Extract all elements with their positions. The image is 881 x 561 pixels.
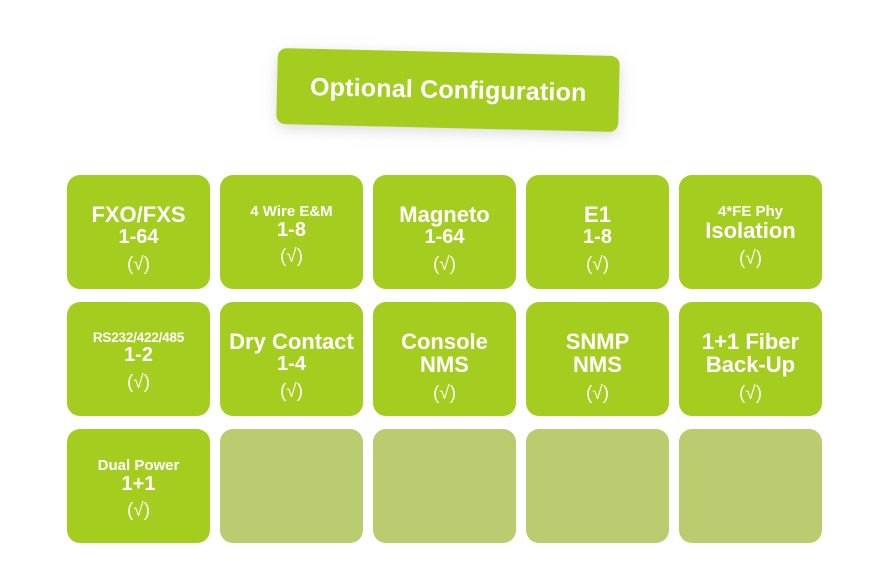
tile-check-mark: (√) — [433, 384, 456, 403]
tile-line-secondary: 1-64 — [118, 227, 158, 248]
config-tile-console-nms: ConsoleNMS(√) — [373, 302, 516, 416]
tile-line-primary: Dry Contact — [229, 331, 354, 354]
config-tile-4fe-phy-isolation: 4*FE PhyIsolation(√) — [679, 175, 822, 289]
tile-check-mark: (√) — [433, 255, 456, 274]
config-tile-empty-slot-2 — [373, 429, 516, 543]
tile-check-mark: (√) — [280, 382, 303, 401]
tile-check-mark: (√) — [127, 373, 150, 392]
tile-line-secondary: Back-Up — [706, 354, 795, 377]
configuration-tile-grid: FXO/FXS1-64(√)4 Wire E&M1-8(√)Magneto1-6… — [67, 175, 821, 543]
tile-check-mark: (√) — [127, 255, 150, 274]
config-tile-rs232-422-485: RS232/422/4851-2(√) — [67, 302, 210, 416]
config-tile-empty-slot-4 — [679, 429, 822, 543]
config-tile-empty-slot-1 — [220, 429, 363, 543]
tile-line-secondary: 1-64 — [424, 227, 464, 248]
tile-check-mark: (√) — [586, 384, 609, 403]
tile-line-secondary: 1-8 — [583, 227, 612, 248]
tile-line-primary: Dual Power — [98, 458, 180, 474]
tile-check-mark: (√) — [280, 247, 303, 266]
tile-line-primary: 4 Wire E&M — [250, 204, 332, 220]
tile-line-secondary: 1+1 — [122, 474, 156, 495]
config-tile-dual-power: Dual Power1+1(√) — [67, 429, 210, 543]
tile-check-mark: (√) — [739, 249, 762, 268]
optional-configuration-banner: Optional Configuration — [271, 46, 623, 136]
config-tile-fxo-fxs: FXO/FXS1-64(√) — [67, 175, 210, 289]
config-tile-dry-contact: Dry Contact1-4(√) — [220, 302, 363, 416]
tile-line-primary: Magneto — [399, 204, 489, 227]
tile-line-primary: SNMP — [566, 331, 630, 354]
tile-line-primary: Console — [401, 331, 488, 354]
tile-line-primary: FXO/FXS — [91, 204, 185, 227]
page-title: Optional Configuration — [309, 73, 586, 108]
config-tile-snmp-nms: SNMPNMS(√) — [526, 302, 669, 416]
tile-check-mark: (√) — [127, 501, 150, 520]
tile-line-primary: E1 — [584, 204, 611, 227]
tile-line-secondary: Isolation — [705, 220, 795, 243]
tile-line-primary: RS232/422/485 — [93, 331, 184, 345]
tile-line-primary: 1+1 Fiber — [702, 331, 799, 354]
tile-check-mark: (√) — [739, 384, 762, 403]
config-tile-e1: E11-8(√) — [526, 175, 669, 289]
config-tile-1plus1-fiber-backup: 1+1 FiberBack-Up(√) — [679, 302, 822, 416]
config-tile-4-wire-em: 4 Wire E&M1-8(√) — [220, 175, 363, 289]
tile-line-secondary: 1-4 — [277, 354, 306, 375]
tile-line-secondary: 1-8 — [277, 220, 306, 241]
tile-line-secondary: NMS — [420, 354, 469, 377]
tile-check-mark: (√) — [586, 255, 609, 274]
tile-line-secondary: 1-2 — [124, 345, 153, 366]
banner-plate: Optional Configuration — [276, 48, 620, 132]
config-tile-empty-slot-3 — [526, 429, 669, 543]
config-tile-magneto: Magneto1-64(√) — [373, 175, 516, 289]
tile-line-secondary: NMS — [573, 354, 622, 377]
